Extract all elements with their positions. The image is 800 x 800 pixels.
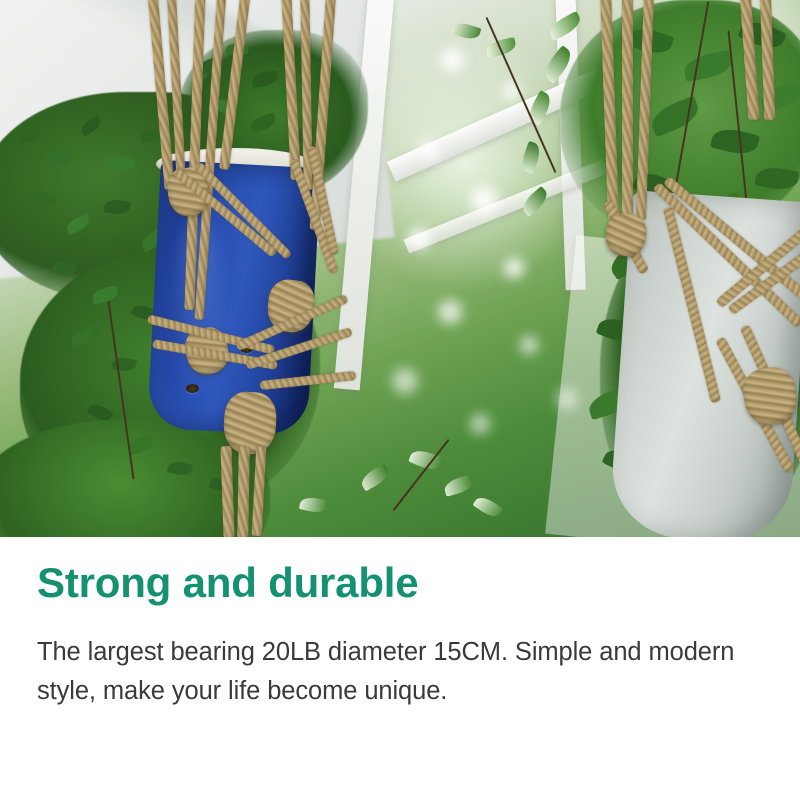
pot-drain-hole [186,384,199,393]
bokeh-dot [470,186,498,214]
product-photo [0,0,800,537]
bokeh-dot [520,336,538,354]
bokeh-dot [440,48,464,72]
bokeh-dot [418,140,438,160]
rope-strand [622,0,633,225]
marketing-copy-block: Strong and durable The largest bearing 2… [0,537,800,800]
bokeh-dot [392,368,418,394]
rope-tail [237,446,250,537]
feature-description: The largest bearing 20LB diameter 15CM. … [37,633,785,711]
bokeh-dot [504,258,524,278]
bokeh-dot [408,228,430,250]
product-feature-banner: Strong and durable The largest bearing 2… [0,0,800,800]
bokeh-dot [470,414,490,434]
feature-headline: Strong and durable [37,561,418,605]
bokeh-dot [556,388,578,410]
bokeh-dot [438,300,462,324]
